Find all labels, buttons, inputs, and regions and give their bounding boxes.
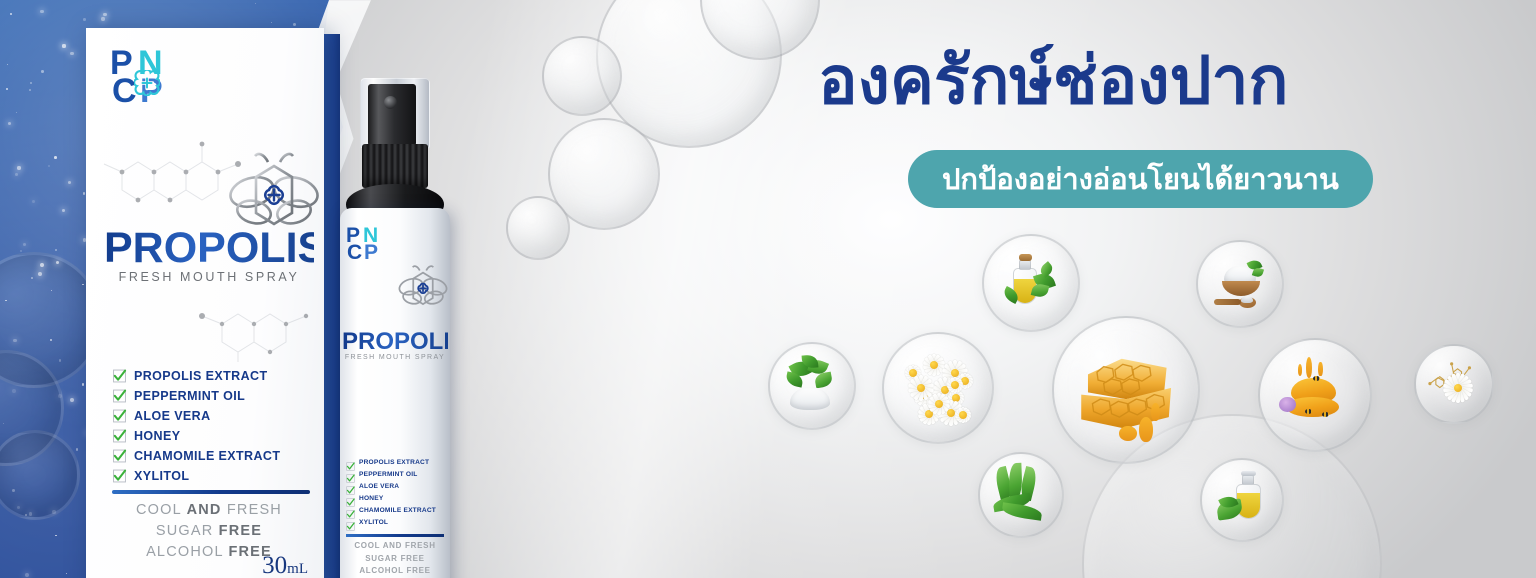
sparkle-dot [16, 112, 17, 113]
bottle-ingredient-row: CHAMOMILE EXTRACT [346, 504, 446, 516]
cross-icon [134, 70, 160, 96]
sparkle-dot [82, 383, 85, 386]
bottle-brand-title: PROPOLIS [342, 328, 448, 356]
ingredient-bubble-peppermint-oil-bottle [982, 234, 1080, 332]
bottle-ingredient-label: ALOE VERA [359, 483, 399, 490]
aloe-vera-leaves-icon [989, 463, 1053, 527]
check-icon [346, 470, 355, 479]
sparkle-dot [59, 359, 62, 362]
sparkle-dot [62, 44, 65, 47]
claim-line: COOL AND FRESH [104, 500, 314, 521]
sparkle-dot [20, 250, 22, 252]
sparkle-dot [62, 209, 66, 213]
sparkle-dot [10, 13, 12, 15]
box-ingredient-list: PROPOLIS EXTRACTPEPPERMINT OILALOE VERAH… [112, 366, 312, 486]
ingredient-bubble-menthol-crystals [768, 342, 856, 430]
ingredient-bubble-chamomile-single [1414, 344, 1494, 424]
bottle-logo-letter-p2: P [364, 241, 378, 265]
check-icon [346, 494, 355, 503]
check-icon [112, 449, 127, 463]
bottle-ingredient-row: XYLITOL [346, 516, 446, 528]
single-daisy [1442, 372, 1474, 404]
sparkle-dot [76, 448, 79, 451]
sparkle-dot [6, 88, 8, 90]
ingredient-label: CHAMOMILE EXTRACT [134, 449, 280, 463]
background-bubble [542, 36, 622, 116]
product-box: P N C P [86, 28, 324, 578]
bottle-ingredient-label: PEPPERMINT OIL [359, 471, 418, 478]
check-icon [346, 518, 355, 527]
sparkle-dot [56, 261, 59, 264]
bottle-claim-line: COOL AND FRESH [342, 540, 448, 553]
product-banner: P N C P [0, 0, 1536, 578]
bottle-logo-letter-c: C [347, 241, 362, 265]
ingredient-label: HONEY [134, 429, 180, 443]
bottle-claim-line: SUGAR FREE [342, 553, 448, 566]
mint-essential-oil-vial-icon [1211, 469, 1273, 531]
flower-center [930, 361, 938, 369]
ingredient-bubble-mint-oil-vial [1200, 458, 1284, 542]
chamomile-flowers-icon [896, 346, 980, 430]
check-icon [112, 429, 127, 443]
ingredient-row: XYLITOL [112, 466, 312, 486]
bottle-claim-line: ALCOHOL FREE [342, 565, 448, 578]
chamomile-single-flower-icon [1424, 354, 1483, 413]
bottle-bee-emblem-icon [398, 264, 448, 316]
sparkle-dot [41, 70, 44, 73]
bottle-ingredient-list: PROPOLIS EXTRACTPEPPERMINT OILALOE VERAH… [346, 456, 446, 528]
bottle-pncp-logo: P N C P [346, 224, 390, 270]
honeycomb-honey-icon [1070, 334, 1182, 446]
check-icon [112, 409, 127, 423]
check-icon [112, 369, 127, 383]
sparkle-dot [70, 398, 74, 402]
sparkle-dot [48, 165, 51, 168]
sparkle-dot [23, 243, 26, 246]
ingredient-label: PEPPERMINT OIL [134, 389, 245, 403]
check-icon [112, 469, 127, 483]
bottle-pump-head [368, 84, 416, 146]
bottle-ingredient-label: HONEY [359, 495, 383, 502]
sparkle-dot [30, 82, 32, 84]
bottle-ingredient-row: PROPOLIS EXTRACT [346, 456, 446, 468]
sparkle-dot [25, 514, 27, 516]
bottle-ingredient-row: ALOE VERA [346, 480, 446, 492]
background-bubble [506, 196, 570, 260]
sparkle-dot [50, 339, 52, 341]
sparkle-dot [25, 573, 29, 577]
sparkle-dot [55, 249, 57, 251]
ingredient-row: PROPOLIS EXTRACT [112, 366, 312, 386]
mint-leaves-crystals-icon [779, 353, 845, 419]
check-icon [346, 458, 355, 467]
sparkle-dot [55, 535, 56, 536]
ingredient-row: CHAMOMILE EXTRACT [112, 446, 312, 466]
sparkle-dot [51, 290, 52, 291]
sparkle-dot [32, 200, 36, 204]
ingredient-bubble-xylitol-bowl [1196, 240, 1284, 328]
ingredient-row: HONEY [112, 426, 312, 446]
sparkle-dot [103, 13, 106, 16]
logo-letter-c: C [112, 74, 136, 108]
ingredient-bubble-propolis-honey-bee [1258, 338, 1372, 452]
sparkle-dot [40, 263, 44, 267]
ingredient-row: PEPPERMINT OIL [112, 386, 312, 406]
sparkle-dot [17, 506, 21, 510]
sparkle-dot [293, 23, 296, 26]
propolis-honey-bee-icon [1272, 352, 1358, 438]
sparkle-dot [83, 192, 85, 194]
sparkle-dot [38, 272, 42, 276]
volume-unit: mL [287, 561, 308, 577]
sparkle-dot [40, 10, 44, 14]
xylitol-crystals-bowl-icon [1207, 251, 1273, 317]
sparkle-dot [54, 156, 57, 159]
sparkle-dot [15, 173, 18, 176]
flower-center [917, 384, 925, 392]
sparkle-dot [7, 64, 9, 66]
ingredient-label: PROPOLIS EXTRACT [134, 369, 268, 383]
sparkle-dot [12, 489, 15, 492]
sparkle-dot [68, 181, 71, 184]
sparkle-dot [66, 573, 67, 574]
box-divider-rule [112, 490, 310, 494]
subtitle-badge: ปกป้องอย่างอ่อนโยนได้ยาวนาน [908, 150, 1373, 208]
sparkle-dot [12, 389, 16, 393]
chamomile-flower [945, 375, 965, 395]
sparkle-dot [8, 122, 11, 125]
sparkle-dot [58, 394, 62, 398]
sparkle-dot [29, 89, 31, 91]
ingredient-row: ALOE VERA [112, 406, 312, 426]
chamomile-flower [906, 373, 936, 403]
sparkle-dot [5, 300, 7, 302]
check-icon [346, 482, 355, 491]
spray-bottle: P N C P PROPOLIS FRESH MOUTH SPRAY PROPO… [332, 78, 492, 578]
sparkle-dot [31, 277, 33, 279]
sparkle-dot [82, 284, 83, 285]
ingredient-bubble-honeycomb [1052, 316, 1200, 464]
hexagon-molecule-decoration [182, 290, 332, 362]
flower-center [951, 381, 959, 389]
sparkle-dot [101, 17, 104, 20]
ingredient-label: ALOE VERA [134, 409, 211, 423]
bottle-divider-rule [346, 534, 444, 537]
bottle-ingredient-label: PROPOLIS EXTRACT [359, 459, 429, 466]
check-icon [112, 389, 127, 403]
box-brand-title: PROPOLIS [104, 224, 314, 273]
sparkle-dot [83, 18, 86, 21]
chamomile-flower [953, 405, 973, 425]
volume-number: 30 [262, 552, 287, 578]
bottle-collar [362, 144, 428, 188]
sparkle-dot [29, 512, 32, 515]
bottle-nozzle [384, 96, 397, 109]
check-icon [346, 506, 355, 515]
sparkle-dot [70, 52, 73, 55]
bottle-ingredient-label: CHAMOMILE EXTRACT [359, 507, 436, 514]
ingredient-bubble-chamomile-flowers [882, 332, 994, 444]
page-title: องครักษ์ช่องปาก [818, 46, 1289, 115]
bottle-ingredient-label: XYLITOL [359, 519, 388, 526]
claim-line: SUGAR FREE [104, 521, 314, 542]
subtitle-text: ปกป้องอย่างอ่อนโยนได้ยาวนาน [942, 156, 1339, 202]
sparkle-dot [271, 22, 272, 23]
box-brand-tagline: FRESH MOUTH SPRAY [104, 270, 314, 284]
flower-center [959, 411, 967, 419]
sparkle-dot [255, 3, 256, 4]
bottle-ingredient-row: HONEY [346, 492, 446, 504]
sparkle-dot [13, 339, 17, 343]
pncp-logo: P N C P [110, 46, 180, 118]
sparkle-dot [52, 510, 56, 514]
bottle-brand-tagline: FRESH MOUTH SPRAY [342, 354, 448, 361]
ingredient-label: XYLITOL [134, 469, 189, 483]
sparkle-dot [17, 166, 20, 169]
box-volume: 30mL [262, 552, 308, 578]
ingredient-bubble-aloe-vera [978, 452, 1064, 538]
bottle-ingredient-row: PEPPERMINT OIL [346, 468, 446, 480]
peppermint-oil-bottle-icon [994, 246, 1067, 319]
sparkle-dot [3, 423, 4, 424]
bottle-claims: COOL AND FRESHSUGAR FREEALCOHOL FREE [342, 540, 448, 578]
